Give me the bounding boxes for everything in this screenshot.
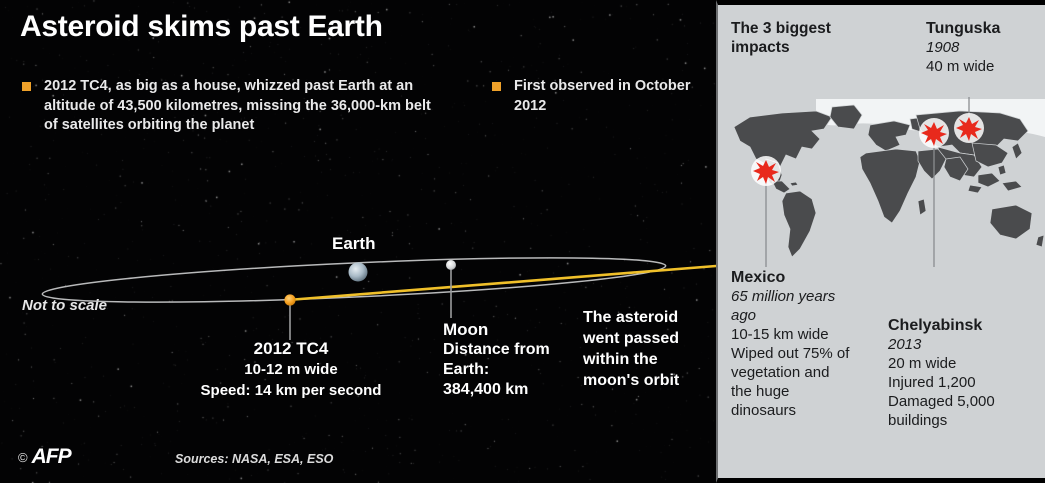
panel-title: The 3 biggest impacts: [731, 19, 891, 57]
bullet-square-icon: [492, 82, 501, 91]
sources-line: Sources: NASA, ESA, ESO: [175, 452, 333, 466]
asteroid-label: 2012 TC4 10-12 m wide Speed: 14 km per s…: [196, 338, 386, 401]
impact-name: Tunguska: [926, 19, 1041, 38]
moon-name: Moon: [443, 320, 573, 340]
page-title: Asteroid skims past Earth: [20, 10, 383, 44]
impact-detail: 20 m wide: [888, 354, 1038, 373]
afp-logo: © AFP: [18, 445, 71, 469]
earth-label: Earth: [332, 234, 375, 254]
bullet-item-2-text: First observed in October 2012: [514, 77, 692, 116]
chelyabinsk-impact-marker: [919, 118, 949, 148]
bullet-square-icon: [22, 82, 31, 91]
bullet-item-1-text: 2012 TC4, as big as a house, whizzed pas…: [44, 77, 442, 136]
impacts-panel: The 3 biggest impacts: [716, 0, 1045, 483]
mexico-impact-marker: [751, 156, 781, 186]
bullet-item-1: 2012 TC4, as big as a house, whizzed pas…: [22, 77, 442, 136]
impact-mexico: Mexico 65 million years ago 10-15 km wid…: [731, 268, 851, 420]
asteroid-size: 10-12 m wide: [196, 359, 386, 380]
impact-detail: Injured 1,200: [888, 373, 1038, 392]
impact-name: Chelyabinsk: [888, 316, 1038, 335]
impact-detail: 40 m wide: [926, 57, 1041, 76]
infographic-root: Asteroid skims past Earth 2012 TC4, as b…: [0, 0, 1045, 483]
impact-tunguska: Tunguska 1908 40 m wide: [926, 19, 1041, 76]
world-map: [720, 97, 1045, 267]
asteroid-name: 2012 TC4: [196, 338, 386, 359]
asteroid-dot: [284, 294, 295, 305]
asteroid-orbit-note: The asteroid went passed within the moon…: [583, 307, 708, 391]
impact-date: 65 million years ago: [731, 287, 851, 325]
impact-name: Mexico: [731, 268, 851, 287]
asteroid-speed: Speed: 14 km per second: [196, 380, 386, 401]
impact-date: 1908: [926, 38, 1041, 57]
space-scene-panel: Asteroid skims past Earth 2012 TC4, as b…: [0, 0, 716, 483]
earth-sphere: [349, 263, 368, 282]
bullet-item-2: First observed in October 2012: [492, 77, 692, 116]
impact-date: 2013: [888, 335, 1038, 354]
moon-dot: [446, 260, 456, 270]
tunguska-impact-marker: [954, 113, 984, 143]
moon-label: Moon Distance from Earth: 384,400 km: [443, 320, 573, 400]
impact-detail: 10-15 km wide: [731, 325, 851, 344]
impact-chelyabinsk: Chelyabinsk 2013 20 m wide Injured 1,200…: [888, 316, 1038, 430]
moon-distance-label: Distance from Earth:: [443, 340, 573, 380]
impact-detail: Damaged 5,000 buildings: [888, 392, 1038, 430]
moon-distance-value: 384,400 km: [443, 380, 573, 400]
afp-wordmark: AFP: [32, 445, 71, 469]
copyright-symbol: ©: [18, 450, 28, 465]
impact-detail: Wiped out 75% of vegetation and the huge…: [731, 344, 851, 420]
